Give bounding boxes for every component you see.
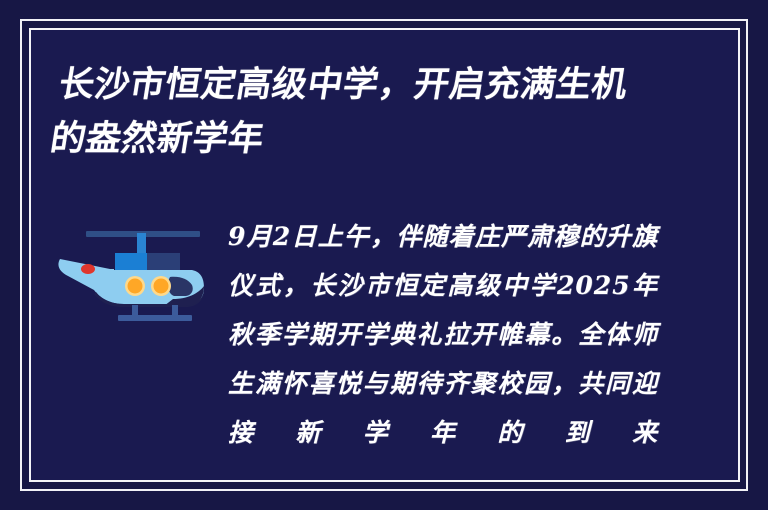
poster-canvas: 长沙市恒定高级中学，开启充满生机的盎然新学年 — [0, 0, 768, 510]
helicopter-icon — [52, 222, 212, 324]
page-title: 长沙市恒定高级中学，开启充满生机的盎然新学年 — [46, 58, 663, 166]
body-paragraph: 9月2日上午，伴随着庄严肃穆的升旗仪式，长沙市恒定高级中学2025年秋季学期开学… — [228, 212, 658, 506]
